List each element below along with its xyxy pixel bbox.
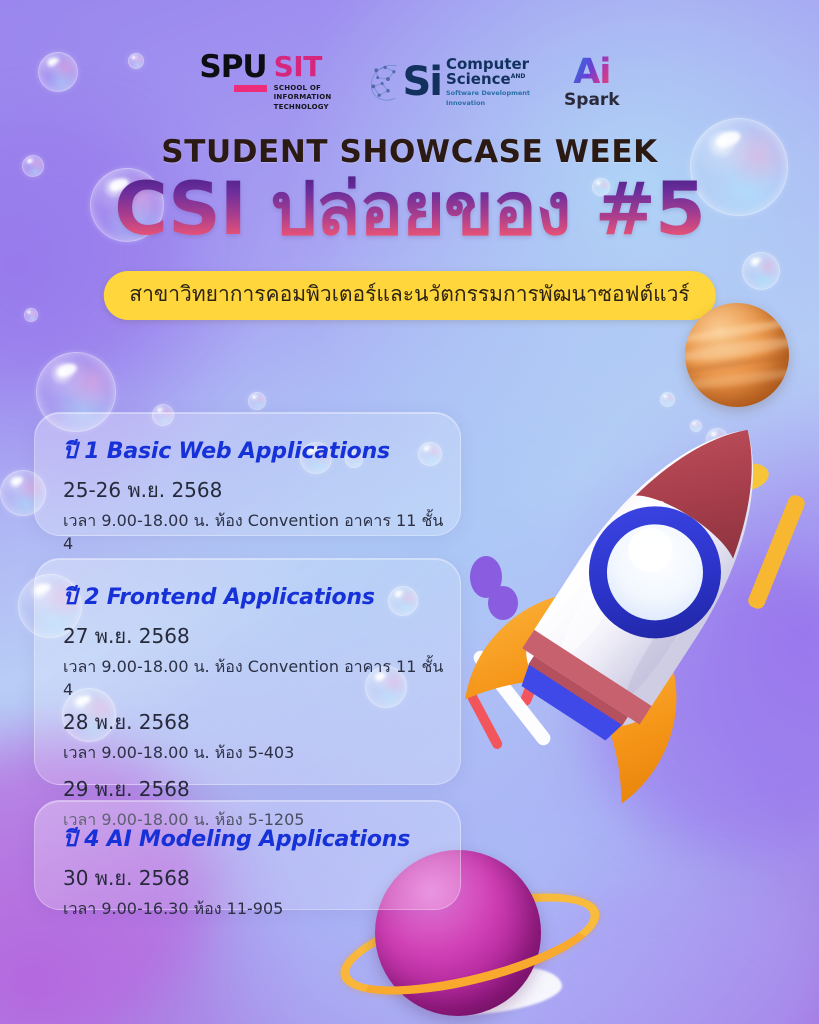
schedule-card-year1[interactable]: ปี 1 Basic Web Applications 25-26 พ.ย. 2… (34, 412, 461, 536)
logo-ai-spark: Ai Spark (564, 55, 620, 109)
logo-row: SPU SIT SCHOOL OF INFORMATION TECHNOLOGY (0, 48, 819, 116)
poster-canvas: SPU SIT SCHOOL OF INFORMATION TECHNOLOGY (0, 0, 819, 1024)
schedule-card-year2-date-2: 28 พ.ย. 2568 (63, 706, 446, 738)
schedule-card-year4-date-1: 30 พ.ย. 2568 (63, 862, 446, 894)
orange-planet (685, 303, 789, 407)
page-title: CSI ปล่อยของ #5 (0, 172, 819, 249)
csi-line-innovation: Innovation (446, 99, 530, 107)
schedule-card-year1-content: ปี 1 Basic Web Applications 25-26 พ.ย. 2… (63, 433, 446, 560)
confetti-bar (746, 493, 807, 611)
schedule-card-year4-detail-1: เวลา 9.00-16.30 ห้อง 11-905 (63, 897, 446, 922)
schedule-card-year1-detail-1: เวลา 9.00-18.00 น. ห้อง Convention อาคาร… (63, 509, 446, 553)
department-ribbon-label: สาขาวิทยาการคอมพิวเตอร์และนวัตกรรมการพัฒ… (129, 282, 689, 306)
schedule-card-year2[interactable]: ปี 2 Frontend Applications 27 พ.ย. 2568 … (34, 558, 461, 785)
schedule-card-year1-title: ปี 1 Basic Web Applications (63, 433, 446, 468)
schedule-card-year2-title: ปี 2 Frontend Applications (63, 579, 446, 614)
logo-csi: Si Computer ScienceAND Software Developm… (365, 57, 530, 108)
spu-wordmark: SPU (199, 52, 266, 83)
sit-subtitle-line3: TECHNOLOGY (274, 103, 332, 112)
schedule-card-year2-detail-2: เวลา 9.00-18.00 น. ห้อง 5-403 (63, 741, 446, 766)
sit-wordmark: SIT (274, 53, 332, 81)
schedule-card-year4[interactable]: ปี 4 AI Modeling Applications 30 พ.ย. 25… (34, 800, 461, 910)
schedule-card-year4-title: ปี 4 AI Modeling Applications (63, 821, 446, 856)
sit-subtitle: SCHOOL OF INFORMATION TECHNOLOGY (274, 84, 332, 112)
confetti-bar (519, 655, 549, 707)
sit-subtitle-line1: SCHOOL OF (274, 84, 332, 93)
ai-wordmark: Ai (573, 55, 610, 90)
csi-science-word: Science (446, 70, 511, 88)
confetti-dot (488, 586, 518, 620)
csi-and-word: AND (511, 73, 526, 80)
bubble-decoration (24, 308, 38, 322)
bubble-decoration (706, 428, 728, 450)
schedule-card-year4-content: ปี 4 AI Modeling Applications 30 พ.ย. 25… (63, 821, 446, 929)
logo-spu-sit: SPU SIT SCHOOL OF INFORMATION TECHNOLOGY (199, 52, 331, 112)
bubble-decoration (248, 392, 266, 410)
csi-line-science: ScienceAND (446, 72, 530, 87)
csi-line-software: Software Development (446, 89, 530, 97)
page-kicker: STUDENT SHOWCASE WEEK (0, 134, 819, 170)
sit-block: SIT SCHOOL OF INFORMATION TECHNOLOGY (274, 52, 332, 112)
bubble-decoration (690, 420, 702, 432)
background-blob (590, 560, 819, 850)
department-ribbon: สาขาวิทยาการคอมพิวเตอร์และนวัตกรรมการพัฒ… (103, 271, 715, 320)
bubble-decoration (742, 252, 780, 290)
bubble-decoration (660, 392, 675, 407)
network-graph-icon (365, 60, 411, 104)
schedule-card-year1-date-1: 25-26 พ.ย. 2568 (63, 474, 446, 506)
schedule-card-year2-detail-1: เวลา 9.00-18.00 น. ห้อง Convention อาคาร… (63, 655, 446, 699)
csi-text-block: Computer ScienceAND Software Development… (446, 57, 530, 108)
spark-wordmark: Spark (564, 92, 620, 109)
confetti-bar (466, 691, 504, 750)
sit-subtitle-line2: INFORMATION (274, 93, 332, 102)
schedule-card-year2-date-1: 27 พ.ย. 2568 (63, 620, 446, 652)
confetti-oval (725, 460, 771, 494)
